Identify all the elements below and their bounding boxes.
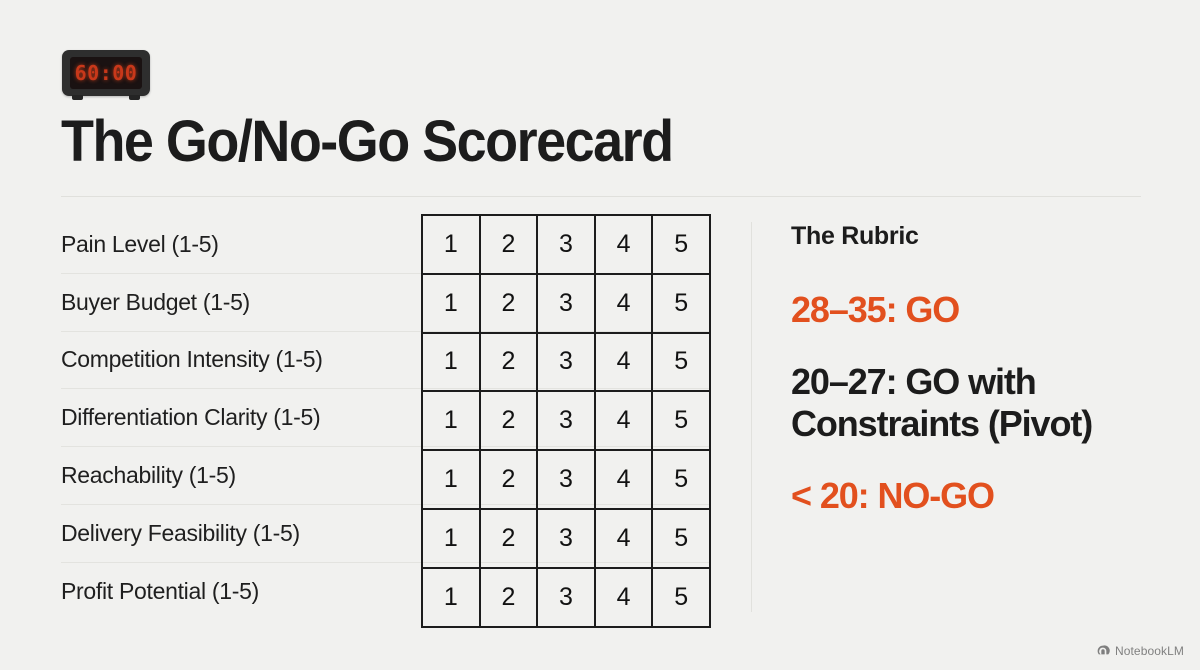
score-row: 1 2 3 4 5 bbox=[423, 334, 709, 393]
score-cell-1[interactable]: 1 bbox=[423, 510, 481, 567]
rubric-item-go-with-constraints: 20–27: GO with Constraints (Pivot) bbox=[791, 361, 1151, 445]
title-divider bbox=[61, 196, 1141, 197]
rubric-panel: The Rubric 28–35: GO 20–27: GO with Cons… bbox=[791, 222, 1151, 517]
score-row: 1 2 3 4 5 bbox=[423, 392, 709, 451]
score-cell-2[interactable]: 2 bbox=[481, 510, 539, 567]
score-cell-4[interactable]: 4 bbox=[596, 334, 654, 391]
score-cell-2[interactable]: 2 bbox=[481, 275, 539, 332]
notebooklm-spiral-icon bbox=[1096, 644, 1110, 658]
score-cell-5[interactable]: 5 bbox=[653, 216, 709, 273]
score-cell-1[interactable]: 1 bbox=[423, 569, 481, 626]
score-row: 1 2 3 4 5 bbox=[423, 569, 709, 626]
score-cell-3[interactable]: 3 bbox=[538, 510, 596, 567]
criteria-label: Profit Potential (1-5) bbox=[61, 578, 259, 605]
score-cell-3[interactable]: 3 bbox=[538, 334, 596, 391]
score-cell-5[interactable]: 5 bbox=[653, 510, 709, 567]
alarm-clock-icon: 60:00 bbox=[62, 50, 150, 96]
score-cell-3[interactable]: 3 bbox=[538, 569, 596, 626]
page-title: The Go/No-Go Scorecard bbox=[61, 108, 673, 175]
score-cell-5[interactable]: 5 bbox=[653, 569, 709, 626]
score-cell-4[interactable]: 4 bbox=[596, 510, 654, 567]
timer-display: 60:00 bbox=[70, 57, 142, 89]
score-cell-4[interactable]: 4 bbox=[596, 392, 654, 449]
score-cell-3[interactable]: 3 bbox=[538, 275, 596, 332]
score-cell-1[interactable]: 1 bbox=[423, 216, 481, 273]
criteria-label: Differentiation Clarity (1-5) bbox=[61, 404, 320, 431]
rubric-item-go: 28–35: GO bbox=[791, 289, 1151, 331]
criteria-label: Reachability (1-5) bbox=[61, 462, 236, 489]
score-cell-4[interactable]: 4 bbox=[596, 275, 654, 332]
score-row: 1 2 3 4 5 bbox=[423, 451, 709, 510]
score-cell-2[interactable]: 2 bbox=[481, 392, 539, 449]
score-row: 1 2 3 4 5 bbox=[423, 510, 709, 569]
score-cell-4[interactable]: 4 bbox=[596, 451, 654, 508]
score-cell-1[interactable]: 1 bbox=[423, 275, 481, 332]
slide-body: Pain Level (1-5) Buyer Budget (1-5) Comp… bbox=[61, 214, 1141, 614]
criteria-label: Delivery Feasibility (1-5) bbox=[61, 520, 300, 547]
score-cell-4[interactable]: 4 bbox=[596, 569, 654, 626]
score-cell-3[interactable]: 3 bbox=[538, 216, 596, 273]
section-divider bbox=[751, 222, 752, 612]
score-cell-5[interactable]: 5 bbox=[653, 275, 709, 332]
score-cell-2[interactable]: 2 bbox=[481, 216, 539, 273]
rubric-item-no-go: < 20: NO-GO bbox=[791, 475, 1151, 517]
slide-canvas: 60:00 The Go/No-Go Scorecard Pain Level … bbox=[0, 0, 1200, 670]
criteria-label: Pain Level (1-5) bbox=[61, 231, 219, 258]
criteria-label: Competition Intensity (1-5) bbox=[61, 346, 323, 373]
score-row: 1 2 3 4 5 bbox=[423, 216, 709, 275]
criteria-label: Buyer Budget (1-5) bbox=[61, 289, 250, 316]
score-cell-5[interactable]: 5 bbox=[653, 334, 709, 391]
score-cell-2[interactable]: 2 bbox=[481, 569, 539, 626]
score-cell-1[interactable]: 1 bbox=[423, 451, 481, 508]
score-cell-5[interactable]: 5 bbox=[653, 451, 709, 508]
score-cell-3[interactable]: 3 bbox=[538, 451, 596, 508]
score-cell-2[interactable]: 2 bbox=[481, 451, 539, 508]
score-grid: 1 2 3 4 5 1 2 3 4 5 1 2 3 4 5 1 bbox=[421, 214, 711, 628]
score-cell-1[interactable]: 1 bbox=[423, 392, 481, 449]
score-cell-3[interactable]: 3 bbox=[538, 392, 596, 449]
watermark-label: NotebookLM bbox=[1115, 644, 1184, 658]
score-cell-1[interactable]: 1 bbox=[423, 334, 481, 391]
score-cell-5[interactable]: 5 bbox=[653, 392, 709, 449]
score-cell-2[interactable]: 2 bbox=[481, 334, 539, 391]
score-cell-4[interactable]: 4 bbox=[596, 216, 654, 273]
watermark: NotebookLM bbox=[1096, 644, 1184, 658]
score-row: 1 2 3 4 5 bbox=[423, 275, 709, 334]
rubric-heading: The Rubric bbox=[791, 222, 1151, 251]
